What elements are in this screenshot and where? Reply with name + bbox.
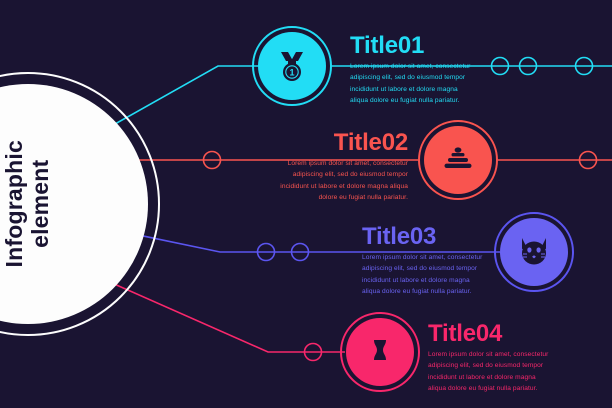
icon-badge-3-disc bbox=[500, 218, 568, 286]
pagoda-icon bbox=[438, 140, 478, 180]
row-body-4: Lorem ipsum dolor sit amet, consectetur … bbox=[428, 349, 550, 394]
row-title-1: Title01 bbox=[350, 34, 472, 58]
hub-label-text: Infographic element bbox=[2, 140, 54, 267]
icon-badge-4-disc bbox=[346, 318, 414, 386]
text-block-4: Title04 Lorem ipsum dolor sit amet, cons… bbox=[428, 322, 550, 394]
icon-badge-1[interactable]: 1 bbox=[252, 26, 332, 106]
text-block-2: Title02 Lorem ipsum dolor sit amet, cons… bbox=[278, 131, 408, 203]
icon-badge-1-disc: 1 bbox=[258, 32, 326, 100]
row-title-2: Title02 bbox=[278, 131, 408, 155]
text-block-1: Title01 Lorem ipsum dolor sit amet, cons… bbox=[350, 34, 472, 106]
text-block-3: Title03 Lorem ipsum dolor sit amet, cons… bbox=[362, 225, 484, 297]
hub-label: Infographic element bbox=[0, 84, 148, 324]
row-body-2: Lorem ipsum dolor sit amet, consectetur … bbox=[278, 158, 408, 203]
infographic-canvas: Infographic element 1 Title01 Lorem ipsu… bbox=[0, 0, 612, 408]
row-title-3: Title03 bbox=[362, 225, 484, 249]
keyhole-icon bbox=[360, 332, 400, 372]
row-body-3: Lorem ipsum dolor sit amet, consectetur … bbox=[362, 252, 484, 297]
icon-badge-4[interactable] bbox=[340, 312, 420, 392]
medal-icon: 1 bbox=[272, 46, 312, 86]
icon-badge-2[interactable] bbox=[418, 120, 498, 200]
icon-badge-3[interactable] bbox=[494, 212, 574, 292]
svg-text:1: 1 bbox=[289, 68, 294, 78]
icon-badge-2-disc bbox=[424, 126, 492, 194]
row-title-4: Title04 bbox=[428, 322, 550, 346]
cat-face-icon bbox=[514, 232, 554, 272]
row-body-1: Lorem ipsum dolor sit amet, consectetur … bbox=[350, 61, 472, 106]
